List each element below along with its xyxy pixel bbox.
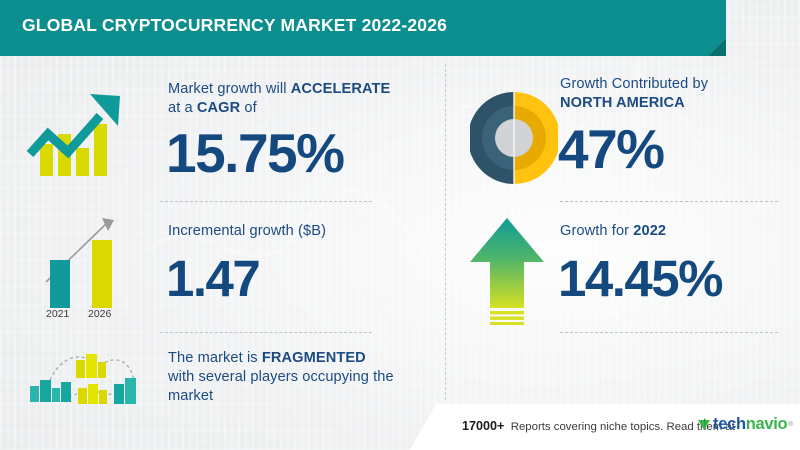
growth-year-caption-bold: 2022	[633, 223, 666, 239]
upward-arrow-icon	[466, 214, 548, 326]
growth-year-caption-pre: Growth for	[560, 223, 633, 239]
cagr-value: 15.75%	[166, 126, 344, 181]
region-contribution-caption: Growth Contributed by NORTH AMERICA	[560, 75, 786, 113]
incremental-growth-caption: Incremental growth ($B)	[168, 222, 426, 241]
technavio-logo[interactable]: tech navio ®	[697, 415, 793, 434]
infographic-canvas: GLOBAL CRYPTOCURRENCY MARKET 2022-2026 M…	[0, 0, 800, 450]
cagr-caption-line2-bold: CAGR	[197, 100, 240, 116]
cagr-caption-bold: ACCELERATE	[291, 81, 391, 97]
right-divider-upper	[560, 201, 778, 202]
column-divider	[445, 64, 446, 400]
logo-trademark: ®	[788, 422, 792, 428]
cagr-caption: Market growth will ACCELERATE at a CAGR …	[168, 80, 426, 118]
two-bar-comparison-icon: 2021 2026	[24, 214, 136, 324]
bar-chart-growth-arrow-icon	[24, 86, 136, 180]
cagr-caption-line2-pre: at a	[168, 100, 197, 116]
fragmentation-caption-line2: with several players occupying the	[168, 369, 394, 385]
logo-text-navio: navio	[746, 415, 788, 434]
fragmentation-caption-line3: market	[168, 388, 213, 404]
incremental-growth-value: 1.47	[166, 253, 259, 304]
cagr-caption-pre: Market growth will	[168, 81, 291, 97]
region-contribution-caption-bold: NORTH AMERICA	[560, 95, 685, 111]
left-divider-upper	[160, 201, 372, 202]
right-divider-lower	[560, 332, 778, 333]
bar-label-2026: 2026	[88, 308, 111, 320]
fragmentation-caption: The market is FRAGMENTED with several pl…	[168, 349, 430, 406]
region-contribution-caption-line1: Growth Contributed by	[560, 76, 708, 92]
footer-report-count: 17000+	[462, 419, 504, 433]
left-divider-lower	[160, 332, 372, 333]
bar-label-2021: 2021	[46, 308, 69, 320]
fragmentation-caption-bold: FRAGMENTED	[262, 350, 366, 366]
region-contribution-value: 47%	[558, 122, 664, 177]
technavio-arrow-icon	[697, 417, 712, 432]
footer-text: 17000+ Reports covering niche topics. Re…	[462, 419, 735, 433]
growth-year-caption: Growth for 2022	[560, 222, 786, 241]
cagr-caption-line2-post: of	[240, 100, 257, 116]
page-title: GLOBAL CRYPTOCURRENCY MARKET 2022-2026	[22, 15, 447, 36]
fragmentation-caption-pre: The market is	[168, 350, 262, 366]
growth-year-value: 14.45%	[558, 253, 722, 304]
fragmented-market-buildings-icon	[18, 346, 144, 408]
donut-chart-icon	[470, 88, 558, 188]
logo-text-tech: tech	[713, 415, 746, 434]
